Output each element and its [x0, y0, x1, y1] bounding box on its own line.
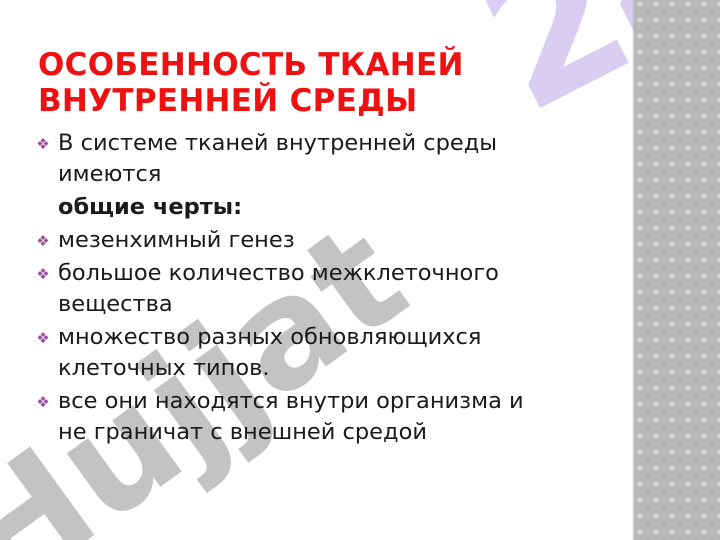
slide-content: Особенность тканей внутренней среды ❖ В …: [0, 0, 720, 540]
diamond-bullet-icon: ❖: [35, 129, 51, 159]
presentation-slide: 24 Hujjat Особенность тканей внутренней …: [0, 0, 720, 540]
list-item-text: все они находятся внутри организма и не …: [58, 386, 605, 448]
list-item: ❖ В системе тканей внутренней среды имею…: [30, 128, 605, 190]
list-item-text: В системе тканей внутренней среды имеютс…: [58, 128, 605, 190]
list-item-text: большое количество межклеточного веществ…: [58, 258, 605, 320]
list-item: ❖ мезенхимный генез: [30, 225, 605, 256]
list-item-text: общие черты:: [58, 192, 605, 223]
list-item-text: множество разных обновляющихся клеточных…: [58, 322, 605, 384]
list-item: ❖ множество разных обновляющихся клеточн…: [30, 322, 605, 384]
diamond-bullet-icon: ❖: [35, 323, 51, 353]
right-decorative-panel: [636, 0, 720, 540]
diamond-bullet-icon: [35, 193, 51, 223]
list-item: ❖ все они находятся внутри организма и н…: [30, 386, 605, 448]
diamond-bullet-icon: ❖: [35, 259, 51, 289]
diamond-bullet-icon: ❖: [35, 226, 51, 256]
slide-title: Особенность тканей внутренней среды: [38, 47, 598, 120]
list-item-text: мезенхимный генез: [58, 225, 605, 256]
diamond-bullet-icon: ❖: [35, 387, 51, 417]
list-item: общие черты:: [30, 192, 605, 223]
bullet-list: ❖ В системе тканей внутренней среды имею…: [30, 128, 605, 450]
list-item: ❖ большое количество межклеточного вещес…: [30, 258, 605, 320]
